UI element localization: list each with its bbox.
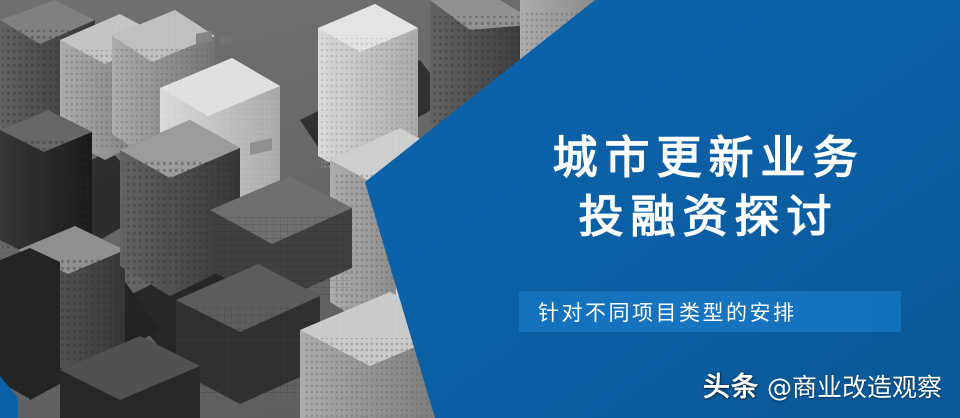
watermark: 头条 @ 商业改造观察	[703, 365, 942, 404]
toutiao-logo-text: 头条	[703, 365, 759, 404]
corner-blue-accent	[0, 364, 26, 418]
watermark-account-name: 商业改造观察	[792, 368, 942, 404]
banner-root: 城市更新业务 投融资探讨 针对不同项目类型的安排 头条 @ 商业改造观察	[0, 0, 960, 418]
at-symbol-icon: @	[767, 373, 792, 402]
subtitle-text-wrap: 针对不同项目类型的安排	[519, 291, 901, 332]
title-line-2: 投融资探讨	[470, 187, 940, 246]
title-line-1: 城市更新业务	[470, 128, 940, 187]
subtitle-text: 针对不同项目类型的安排	[519, 297, 797, 327]
title-block: 城市更新业务 投融资探讨	[470, 128, 940, 246]
